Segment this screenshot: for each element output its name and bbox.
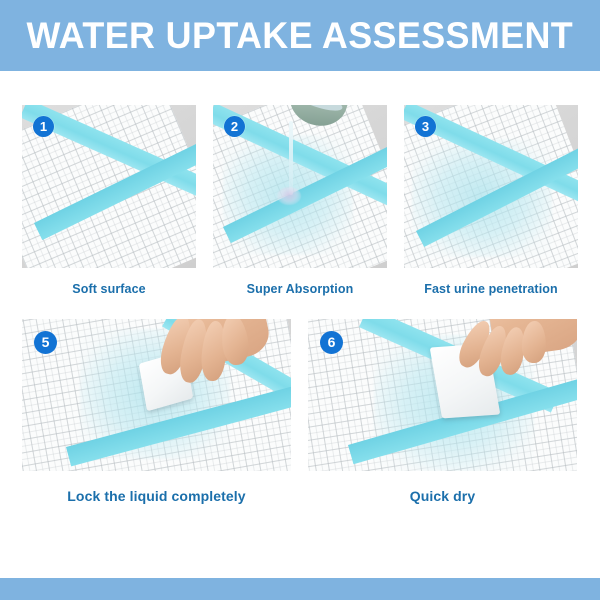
steps-row-bottom: 5 Lock the liquid completely bbox=[0, 297, 600, 505]
step-badge-6: 6 bbox=[320, 331, 343, 354]
pad-scene-5 bbox=[22, 319, 291, 471]
content-area: 1 Soft surface bbox=[0, 71, 600, 505]
step-panel-3[interactable]: 3 Fast urine penetration bbox=[404, 105, 578, 297]
step-image-6: 6 bbox=[308, 319, 577, 471]
step-caption-5: Lock the liquid completely bbox=[67, 488, 245, 505]
step-image-1: 1 bbox=[22, 105, 196, 268]
step-badge-3: 3 bbox=[415, 116, 436, 137]
step-badge-2: 2 bbox=[224, 116, 245, 137]
step-image-3: 3 bbox=[404, 105, 578, 268]
hand bbox=[454, 319, 577, 389]
step-image-5: 5 bbox=[22, 319, 291, 471]
step-image-2: 2 bbox=[213, 105, 387, 268]
pad-scene-6 bbox=[308, 319, 577, 471]
step-caption-1: Soft surface bbox=[72, 282, 145, 297]
step-badge-5: 5 bbox=[34, 331, 57, 354]
step-caption-2: Super Absorption bbox=[247, 282, 354, 297]
step-caption-6: Quick dry bbox=[410, 488, 475, 505]
step-panel-1[interactable]: 1 Soft surface bbox=[22, 105, 196, 297]
header-bar: WATER UPTAKE ASSESSMENT bbox=[0, 0, 600, 71]
steps-row-top: 1 Soft surface bbox=[0, 71, 600, 297]
hand bbox=[150, 319, 270, 395]
step-panel-6[interactable]: 6 Quick dry bbox=[308, 319, 577, 505]
step-panel-5[interactable]: 5 Lock the liquid completely bbox=[22, 319, 291, 505]
water-splash bbox=[277, 187, 301, 205]
step-panel-2[interactable]: 2 Super Absorption bbox=[213, 105, 387, 297]
page-title: WATER UPTAKE ASSESSMENT bbox=[27, 17, 574, 54]
water-stream bbox=[289, 121, 293, 195]
glass-liquid bbox=[293, 105, 345, 115]
footer-bar bbox=[0, 578, 600, 600]
step-badge-1: 1 bbox=[33, 116, 54, 137]
step-caption-3: Fast urine penetration bbox=[424, 282, 557, 297]
